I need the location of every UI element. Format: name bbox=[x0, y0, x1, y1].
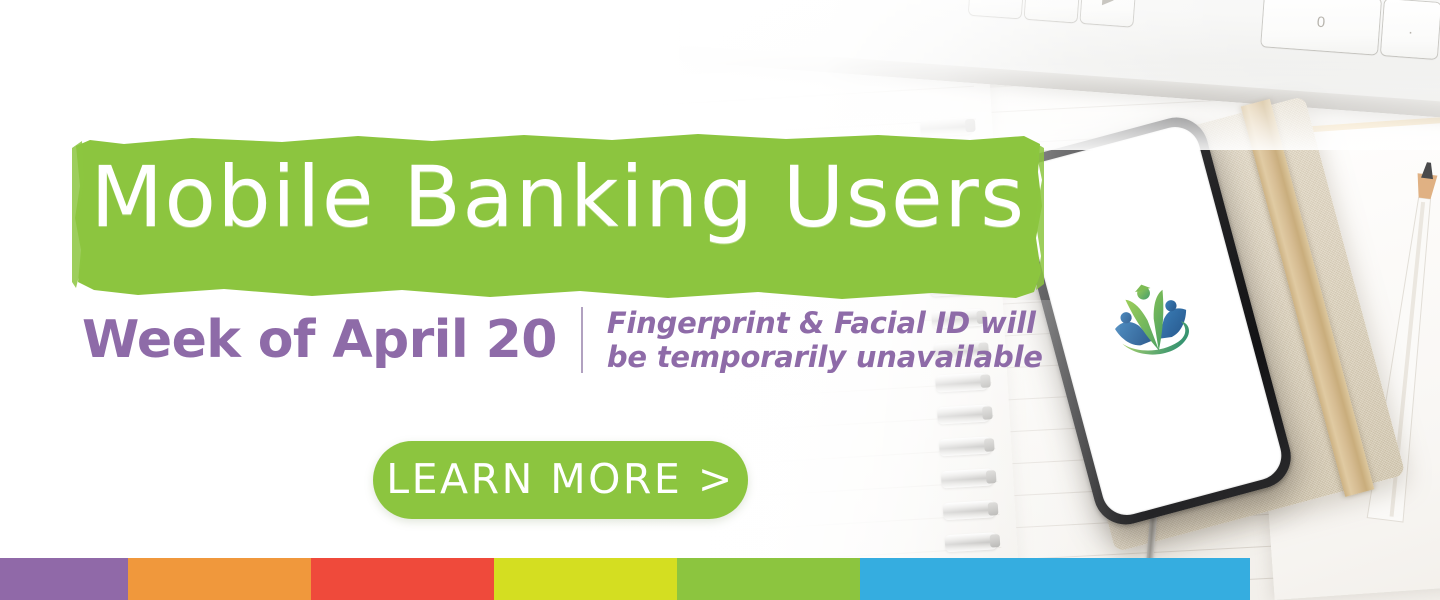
color-strip-orange bbox=[128, 558, 311, 600]
color-strip-purple bbox=[0, 558, 128, 600]
learn-more-button[interactable]: LEARN MORE > bbox=[373, 441, 748, 519]
color-strip-yellow bbox=[494, 558, 677, 600]
availability-note: Fingerprint & Facial ID will be temporar… bbox=[607, 306, 1043, 374]
date-label: Week of April 20 bbox=[82, 310, 557, 370]
promo-banner: shift56+commandoptioncontrol▲◀▼▶123enter… bbox=[0, 0, 1440, 600]
availability-note-line2: be temporarily unavailable bbox=[607, 340, 1043, 374]
color-strip-green bbox=[677, 558, 860, 600]
vertical-divider bbox=[581, 307, 583, 373]
page-title: Mobile Banking Users bbox=[72, 150, 1044, 244]
headline-brush-banner: Mobile Banking Users bbox=[72, 132, 1044, 304]
availability-note-line1: Fingerprint & Facial ID will bbox=[607, 306, 1043, 340]
subhead-row: Week of April 20 Fingerprint & Facial ID… bbox=[82, 306, 1043, 374]
color-strip bbox=[0, 558, 1440, 600]
color-strip-red bbox=[311, 558, 494, 600]
color-strip-blue bbox=[860, 558, 1250, 600]
